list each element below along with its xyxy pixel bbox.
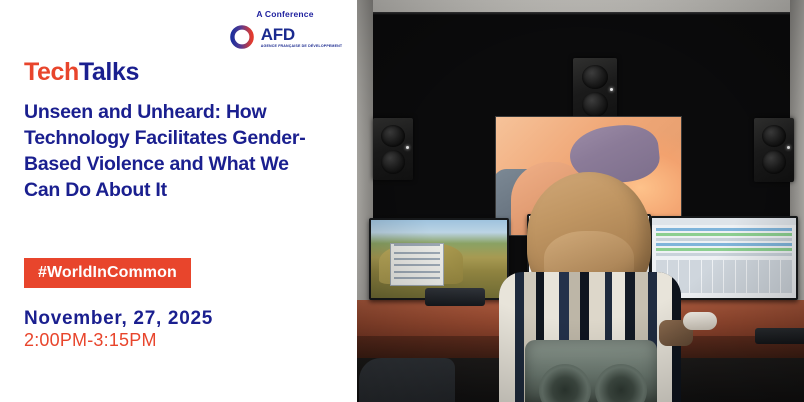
conference-logo-block: A Conference AFD AGENCE FRANÇAISE DE DÉV… [225,9,345,51]
studio-speaker-right [754,118,794,182]
event-date: November, 27, 2025 [24,308,213,330]
speaker-woofer [381,150,405,174]
speaker-led [610,88,613,91]
studio-speaker-left [373,118,413,180]
afd-abbreviation: AFD [261,26,342,43]
event-photo [357,0,804,402]
speaker-tweeter [582,65,608,89]
studio-engineer [485,172,691,402]
event-time: 2:00PM-3:15PM [24,330,157,351]
speaker-tweeter [381,125,405,147]
speaker-led [787,146,790,149]
computer-mouse [683,312,717,330]
afd-logo: AFD AGENCE FRANÇAISE DE DÉVELOPPEMENT [225,23,345,51]
page-title: Unseen and Unheard: How Technology Facil… [24,100,324,204]
keyboard [755,328,804,344]
text-panel: A Conference AFD AGENCE FRANÇAISE DE DÉV… [0,0,357,402]
desktop-window [390,243,444,285]
afd-ring-icon [228,23,256,51]
speaker-led [406,146,409,149]
series-brand: TechTalks [24,60,139,85]
conference-banner: A Conference AFD AGENCE FRANÇAISE DE DÉV… [0,0,804,402]
office-chair-back [525,340,657,402]
brand-part-tech: Tech [24,58,79,86]
chair-detail [595,364,647,402]
hashtag-badge: #WorldInCommon [24,258,191,288]
monitor-stand [711,298,737,300]
speaker-woofer [582,92,608,117]
brand-part-talks: Talks [79,58,139,86]
desk-tablet [425,288,485,306]
backpack [359,358,455,402]
speaker-tweeter [762,125,786,147]
conference-kicker: A Conference [225,9,345,19]
afd-tagline: AGENCE FRANÇAISE DE DÉVELOPPEMENT [261,44,342,49]
studio-speaker-center [573,58,617,124]
speaker-woofer [762,150,786,174]
afd-wordmark: AFD AGENCE FRANÇAISE DE DÉVELOPPEMENT [261,26,342,49]
chair-detail [539,364,591,402]
studio-photograph [357,0,804,402]
